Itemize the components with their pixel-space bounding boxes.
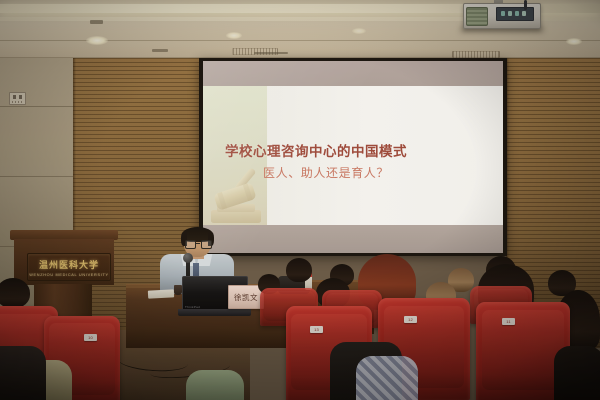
projector-led-icon [508, 11, 512, 16]
seat-number-plate: 10 [84, 334, 97, 341]
projector-control-panel [496, 7, 534, 21]
projector-led-icon [501, 11, 505, 16]
audience-plaid-shirt [356, 356, 418, 400]
seat-number-plate: 12 [404, 316, 417, 323]
wall-socket-plate-icon [9, 92, 26, 105]
projector-led-icon [515, 11, 519, 16]
downlight-icon [86, 36, 108, 45]
projector-lens-icon [466, 7, 488, 26]
ceiling-vent [152, 49, 168, 52]
seat-number-plate: 13 [310, 326, 323, 333]
audience-torso [0, 346, 46, 400]
ceiling-vent [90, 20, 103, 24]
slide-subtitle: 医人、助人还是育人？ [263, 164, 503, 181]
gavel-icon [207, 153, 269, 223]
slide-title: 学校心理咨询中心的中国模式 [225, 140, 503, 160]
downlight-icon [226, 32, 242, 39]
screen-bottom-band [203, 225, 503, 253]
screen-top-band [203, 61, 503, 86]
audience-head [286, 258, 312, 282]
lecture-hall-photo: 学校心理咨询中心的中国模式 医人、助人还是育人？ 温州医科大学 WENZHOU … [0, 0, 600, 400]
downlight-icon [352, 28, 366, 34]
audience-torso [186, 370, 244, 400]
projector-led-icon [522, 11, 526, 16]
presentation-slide: 学校心理咨询中心的中国模式 医人、助人还是育人？ [203, 86, 503, 225]
audience-torso [554, 346, 600, 400]
audience-area: 13 12 11 10 [0, 250, 600, 400]
projection-screen: 学校心理咨询中心的中国模式 医人、助人还是育人？ [203, 61, 503, 253]
ceiling-air-grille [452, 51, 500, 58]
seat-number-plate: 11 [502, 318, 515, 325]
audience-head [0, 278, 30, 308]
glasses-icon [185, 240, 210, 247]
ceiling-vent [254, 52, 288, 54]
projector-cable [524, 0, 527, 10]
downlight-icon [566, 38, 582, 45]
